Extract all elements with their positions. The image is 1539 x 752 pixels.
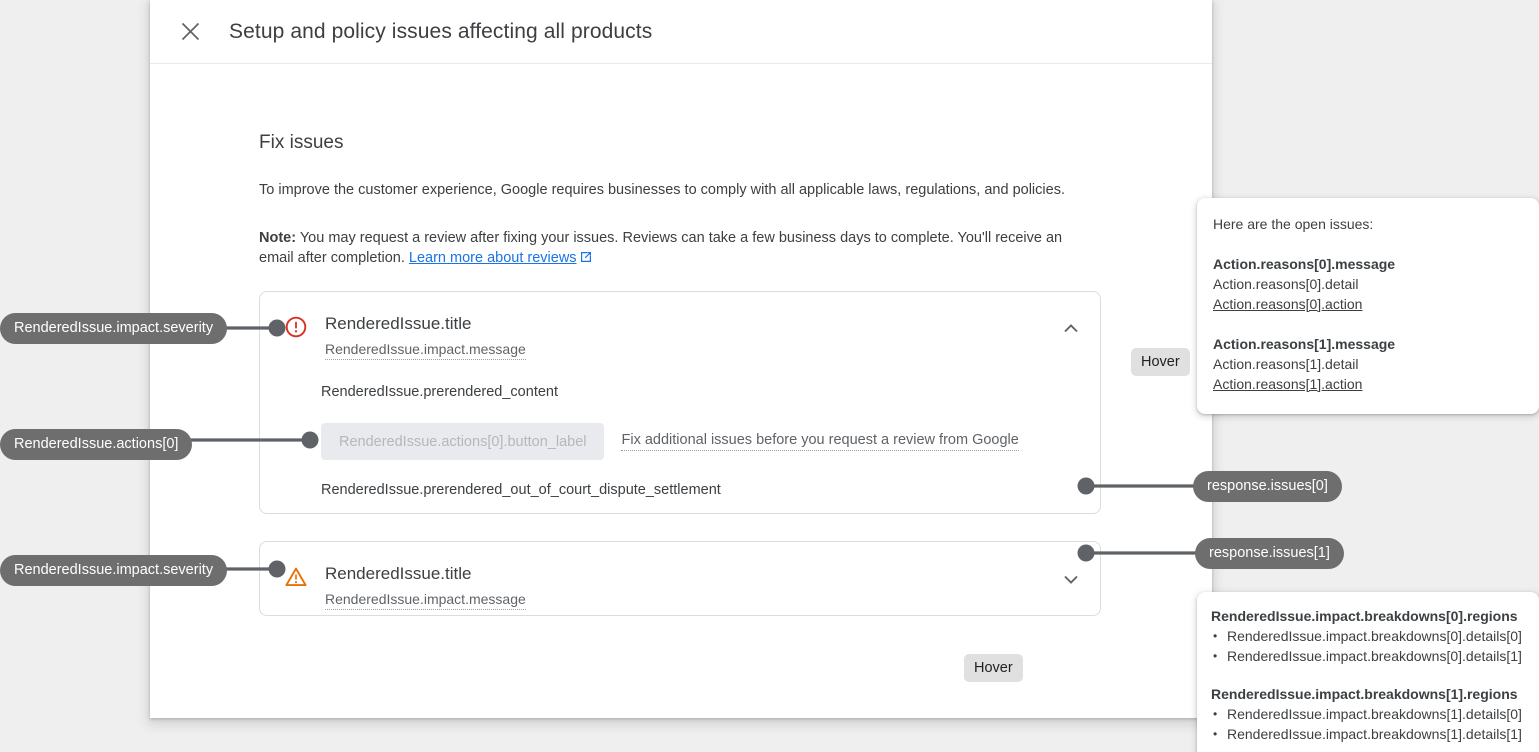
hover-chip-top: Hover	[1131, 348, 1190, 376]
issue-action-row: RenderedIssue.actions[0].button_label Fi…	[321, 423, 1100, 460]
page-title: Setup and policy issues affecting all pr…	[229, 20, 652, 44]
issue-title: RenderedIssue.title	[325, 314, 1058, 334]
annotation-severity-1: RenderedIssue.impact.severity	[0, 555, 227, 586]
note-label: Note:	[259, 230, 296, 246]
list-item: RenderedIssue.impact.breakdowns[0].detai…	[1211, 626, 1523, 646]
request-review-button[interactable]: RenderedIssue.actions[0].button_label	[321, 423, 604, 460]
issue-impact-message[interactable]: RenderedIssue.impact.message	[325, 591, 526, 610]
breakdown-details-list: RenderedIssue.impact.breakdowns[1].detai…	[1211, 704, 1523, 744]
chevron-up-icon[interactable]	[1058, 316, 1084, 342]
dialog-header: Setup and policy issues affecting all pr…	[150, 0, 1212, 64]
annotation-actions-0: RenderedIssue.actions[0]	[0, 429, 192, 460]
breakdown-details-list: RenderedIssue.impact.breakdowns[0].detai…	[1211, 626, 1523, 666]
list-item: RenderedIssue.impact.breakdowns[0].detai…	[1211, 646, 1523, 666]
tooltip-lead: Here are the open issues:	[1213, 214, 1519, 234]
issue-card-content: RenderedIssue.prerendered_content Render…	[260, 384, 1100, 498]
breakdown-regions: RenderedIssue.impact.breakdowns[0].regio…	[1211, 606, 1523, 626]
error-circle-icon	[285, 316, 307, 338]
issue-card[interactable]: RenderedIssue.title RenderedIssue.impact…	[259, 541, 1101, 616]
prerendered-content: RenderedIssue.prerendered_content	[321, 384, 1100, 400]
close-icon[interactable]	[170, 12, 210, 52]
section-title: Fix issues	[259, 132, 1212, 154]
note-text: You may request a review after fixing yo…	[259, 230, 1062, 266]
note-paragraph: Note: You may request a review after fix…	[259, 228, 1094, 269]
warning-triangle-icon	[285, 566, 307, 588]
chevron-down-icon[interactable]	[1058, 566, 1084, 592]
annotation-issues-1: response.issues[1]	[1195, 538, 1344, 569]
reason-message: Action.reasons[1].message	[1213, 334, 1519, 354]
reason-message: Action.reasons[0].message	[1213, 254, 1519, 274]
close-glyph	[181, 22, 200, 41]
reason-detail: Action.reasons[0].detail	[1213, 274, 1519, 294]
external-link-icon	[580, 249, 592, 269]
issue-card-header[interactable]: RenderedIssue.title RenderedIssue.impact…	[260, 292, 1100, 360]
impact-breakdowns-tooltip: RenderedIssue.impact.breakdowns[0].regio…	[1197, 592, 1539, 752]
annotation-severity-0: RenderedIssue.impact.severity	[0, 313, 227, 344]
dialog-body: Fix issues To improve the customer exper…	[150, 64, 1212, 269]
issue-title: RenderedIssue.title	[325, 564, 1058, 584]
screenshot-root: Setup and policy issues affecting all pr…	[0, 0, 1539, 752]
breakdown-regions: RenderedIssue.impact.breakdowns[1].regio…	[1211, 684, 1523, 704]
issue-card-headings: RenderedIssue.title RenderedIssue.impact…	[325, 314, 1058, 360]
intro-paragraph: To improve the customer experience, Goog…	[259, 180, 1094, 200]
reason-action-link[interactable]: Action.reasons[0].action	[1213, 294, 1519, 314]
hover-chip-bottom: Hover	[964, 654, 1023, 682]
issue-card-header[interactable]: RenderedIssue.title RenderedIssue.impact…	[260, 542, 1100, 610]
annotation-issues-0: response.issues[0]	[1193, 471, 1342, 502]
reason-detail: Action.reasons[1].detail	[1213, 354, 1519, 374]
issue-card-headings: RenderedIssue.title RenderedIssue.impact…	[325, 564, 1058, 610]
list-item: RenderedIssue.impact.breakdowns[1].detai…	[1211, 724, 1523, 744]
reason-group: Action.reasons[0].message Action.reasons…	[1213, 254, 1519, 314]
reason-group: Action.reasons[1].message Action.reasons…	[1213, 334, 1519, 394]
breakdown-group: RenderedIssue.impact.breakdowns[1].regio…	[1211, 684, 1523, 744]
out-of-court-dispute-settlement: RenderedIssue.prerendered_out_of_court_d…	[321, 482, 1100, 498]
open-issues-tooltip: Here are the open issues: Action.reasons…	[1197, 198, 1539, 414]
issue-card[interactable]: RenderedIssue.title RenderedIssue.impact…	[259, 291, 1101, 514]
breakdown-group: RenderedIssue.impact.breakdowns[0].regio…	[1211, 606, 1523, 666]
issue-impact-message[interactable]: RenderedIssue.impact.message	[325, 341, 526, 360]
action-disabled-note[interactable]: Fix additional issues before you request…	[621, 432, 1018, 451]
learn-more-link[interactable]: Learn more about reviews	[409, 250, 577, 266]
list-item: RenderedIssue.impact.breakdowns[1].detai…	[1211, 704, 1523, 724]
reason-action-link[interactable]: Action.reasons[1].action	[1213, 374, 1519, 394]
